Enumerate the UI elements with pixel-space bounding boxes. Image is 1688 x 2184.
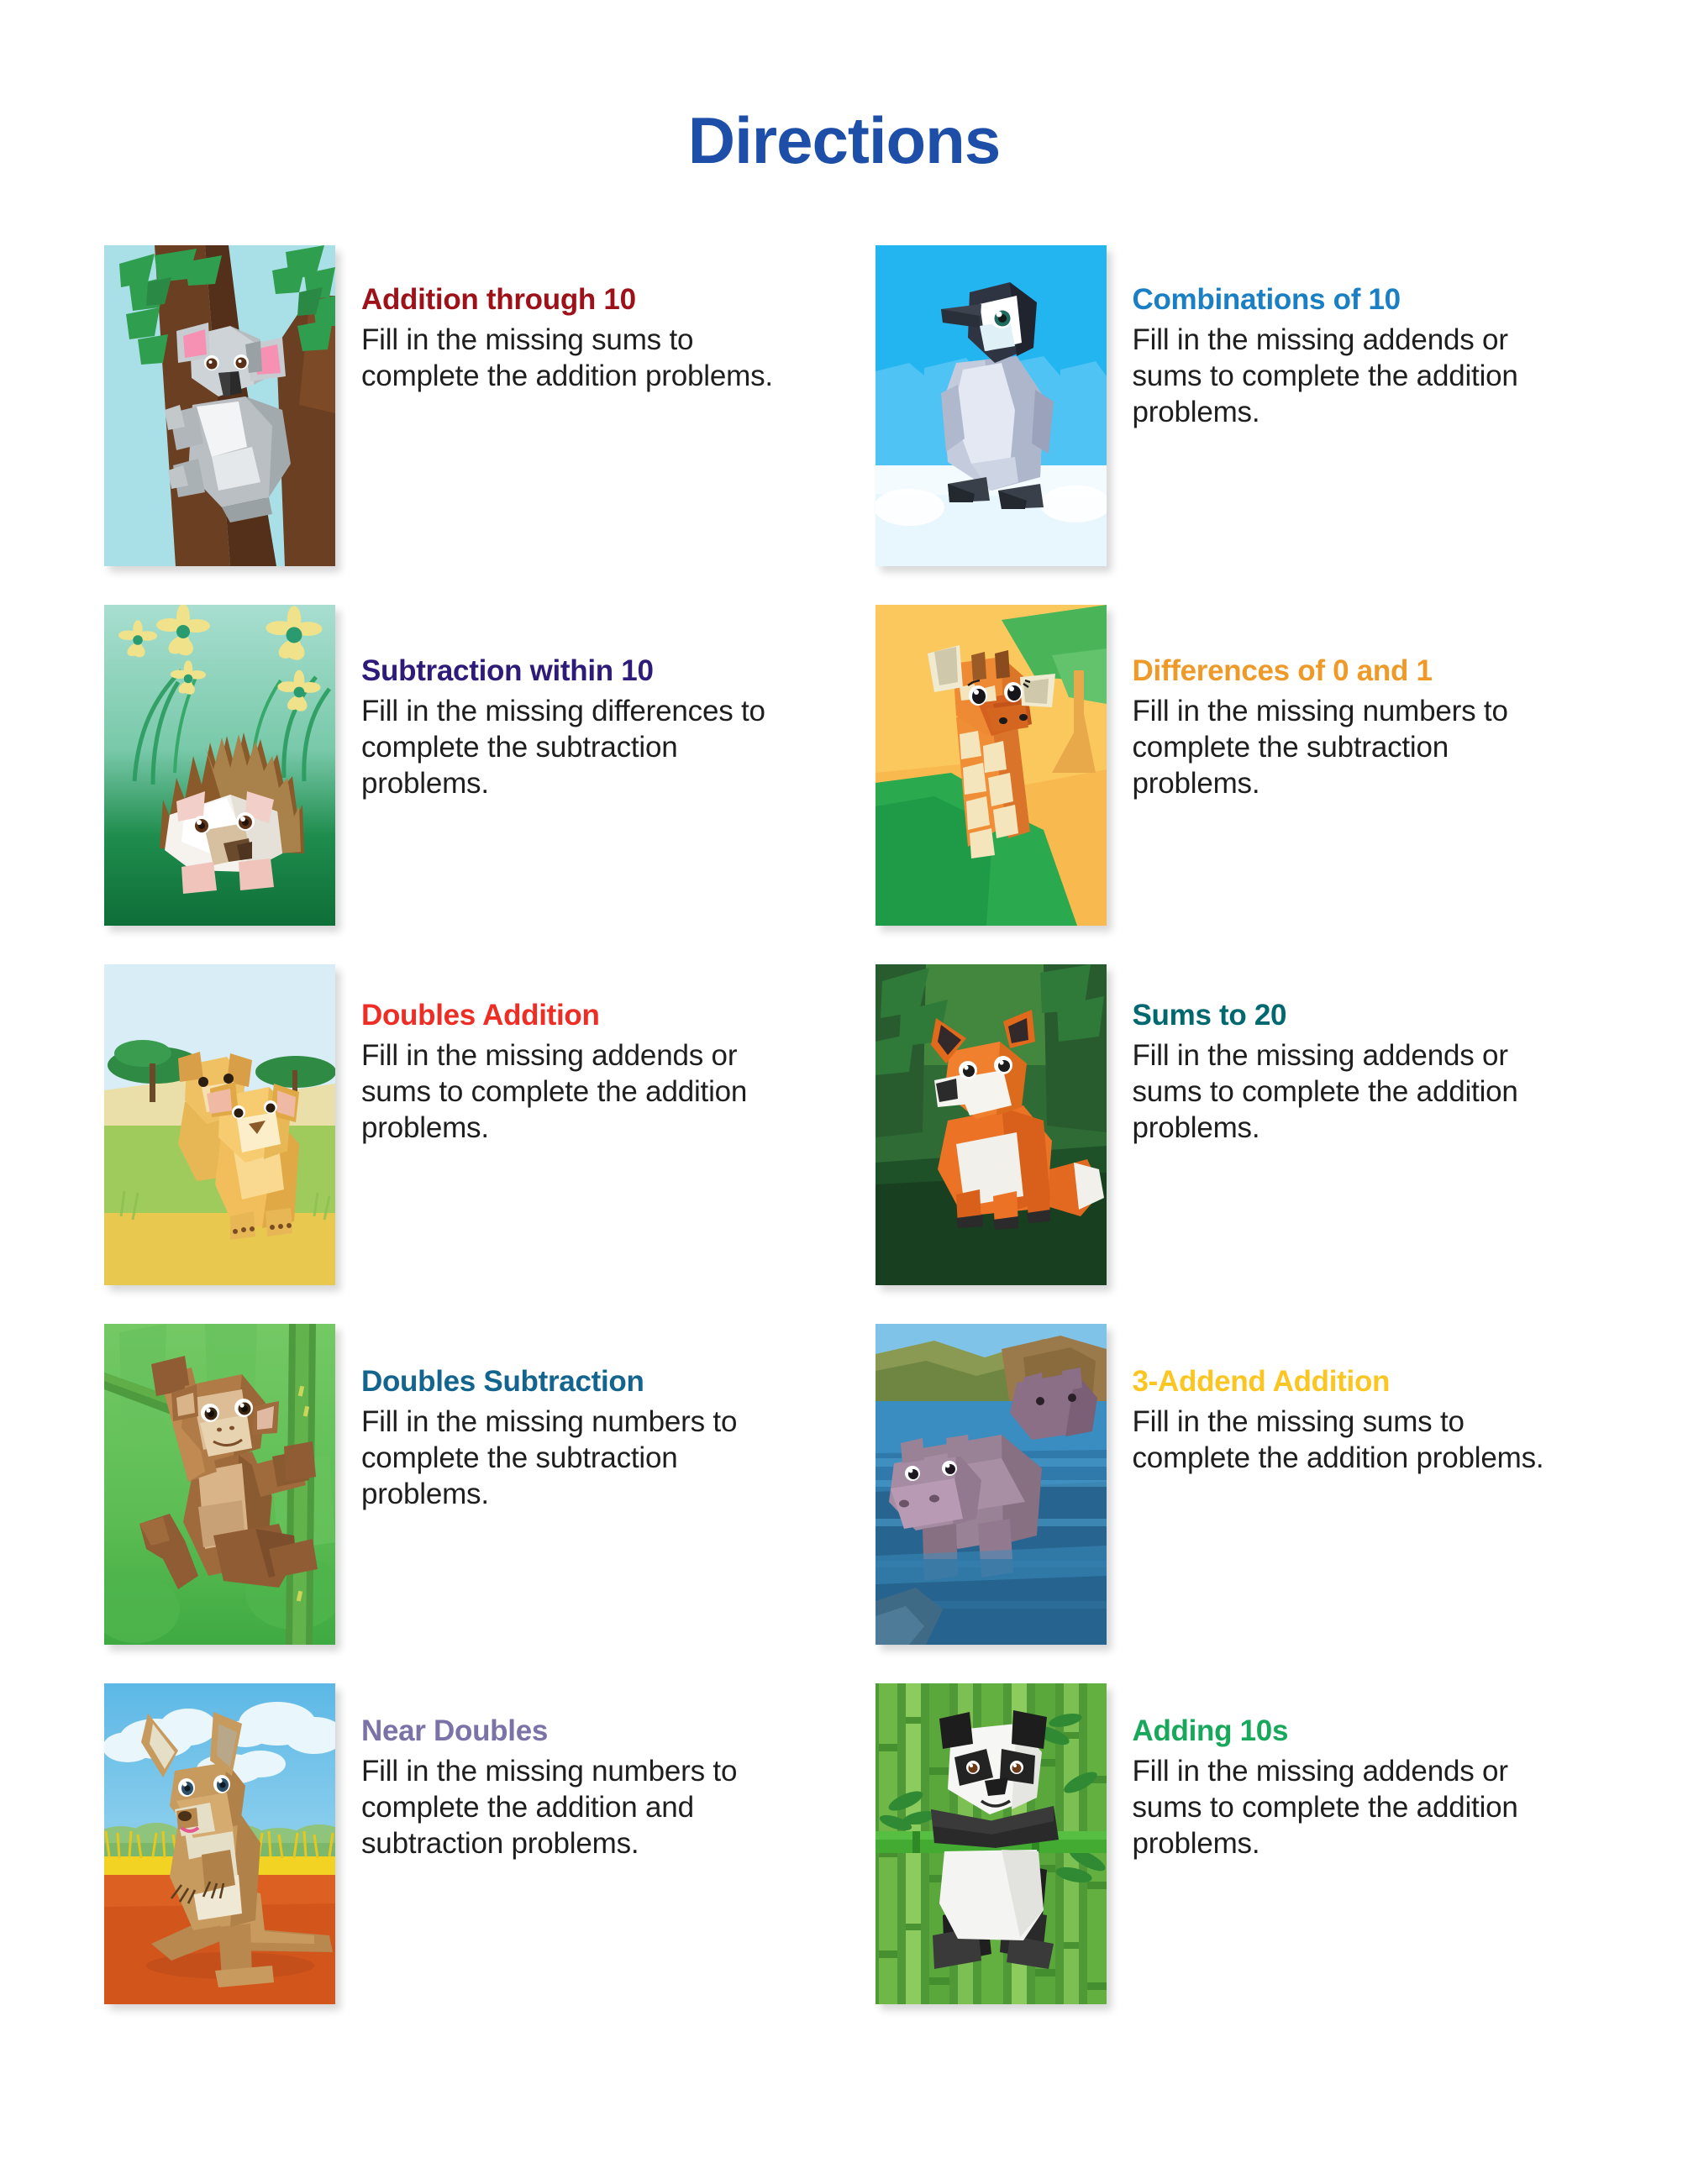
directions-grid: Addition through 10 Fill in the missing … — [0, 245, 1688, 2043]
entry-description: Fill in the missing numbers to complete … — [361, 1754, 780, 1861]
entry-description: Fill in the missing numbers to complete … — [1133, 694, 1551, 801]
direction-entry-adding-10s: Adding 10s Fill in the missing addends o… — [859, 1683, 1608, 2043]
entry-title: Doubles Subtraction — [361, 1364, 780, 1399]
panda-illustration — [876, 1683, 1107, 2004]
entry-title: 3-Addend Addition — [1133, 1364, 1551, 1399]
entry-text: Addition through 10 Fill in the missing … — [326, 245, 780, 395]
thumbnail-wrapper — [87, 964, 326, 1285]
direction-entry-differences-of-0-and-1: Differences of 0 and 1 Fill in the missi… — [859, 605, 1608, 964]
entry-text: Subtraction within 10 Fill in the missin… — [326, 605, 780, 801]
direction-entry-near-doubles: Near Doubles Fill in the missing numbers… — [87, 1683, 837, 2043]
entry-text: 3-Addend Addition Fill in the missing su… — [1097, 1324, 1551, 1477]
direction-entry-addition-through-10: Addition through 10 Fill in the missing … — [87, 245, 837, 605]
entry-title: Combinations of 10 — [1133, 282, 1551, 317]
thumbnail-wrapper — [87, 1324, 326, 1645]
page-title: Directions — [0, 0, 1688, 173]
entry-description: Fill in the missing sums to complete the… — [1133, 1404, 1551, 1476]
thumbnail-wrapper — [859, 964, 1097, 1285]
entry-text: Combinations of 10 Fill in the missing a… — [1097, 245, 1551, 430]
monkey-illustration — [104, 1324, 335, 1645]
direction-entry-combinations-of-10: Combinations of 10 Fill in the missing a… — [859, 245, 1608, 605]
entry-title: Near Doubles — [361, 1714, 780, 1748]
entry-title: Differences of 0 and 1 — [1133, 654, 1551, 688]
entry-text: Adding 10s Fill in the missing addends o… — [1097, 1683, 1551, 1861]
entry-description: Fill in the missing addends or sums to c… — [1133, 1038, 1551, 1146]
entry-title: Subtraction within 10 — [361, 654, 780, 688]
thumbnail-wrapper — [859, 1683, 1097, 2004]
lion-cubs-illustration — [104, 964, 335, 1285]
thumbnail-wrapper — [859, 1324, 1097, 1645]
thumbnail-wrapper — [859, 245, 1097, 566]
thumbnail-wrapper — [87, 605, 326, 926]
thumbnail-wrapper — [87, 245, 326, 566]
koala-in-tree-illustration — [104, 245, 335, 566]
entry-title: Addition through 10 — [361, 282, 780, 317]
entry-description: Fill in the missing sums to complete the… — [361, 323, 780, 394]
entry-description: Fill in the missing numbers to complete … — [361, 1404, 780, 1512]
fox-illustration — [876, 964, 1107, 1285]
direction-entry-3-addend-addition: 3-Addend Addition Fill in the missing su… — [859, 1324, 1608, 1683]
entry-description: Fill in the missing addends or sums to c… — [361, 1038, 780, 1146]
entry-text: Doubles Subtraction Fill in the missing … — [326, 1324, 780, 1512]
entry-description: Fill in the missing addends or sums to c… — [1133, 323, 1551, 430]
entry-description: Fill in the missing addends or sums to c… — [1133, 1754, 1551, 1861]
penguin-chick-illustration — [876, 245, 1107, 566]
direction-entry-doubles-subtraction: Doubles Subtraction Fill in the missing … — [87, 1324, 837, 1683]
direction-entry-doubles-addition: Doubles Addition Fill in the missing add… — [87, 964, 837, 1324]
direction-entry-subtraction-within-10: Subtraction within 10 Fill in the missin… — [87, 605, 837, 964]
directions-page: Directions — [0, 0, 1688, 2184]
entry-text: Near Doubles Fill in the missing numbers… — [326, 1683, 780, 1861]
hippo-illustration — [876, 1324, 1107, 1645]
entry-text: Doubles Addition Fill in the missing add… — [326, 964, 780, 1146]
entry-text: Differences of 0 and 1 Fill in the missi… — [1097, 605, 1551, 801]
hedgehog-illustration — [104, 605, 335, 926]
direction-entry-sums-to-20: Sums to 20 Fill in the missing addends o… — [859, 964, 1608, 1324]
entry-title: Adding 10s — [1133, 1714, 1551, 1748]
thumbnail-wrapper — [859, 605, 1097, 926]
thumbnail-wrapper — [87, 1683, 326, 2004]
giraffe-illustration — [876, 605, 1107, 926]
entry-title: Doubles Addition — [361, 998, 780, 1032]
entry-text: Sums to 20 Fill in the missing addends o… — [1097, 964, 1551, 1146]
entry-title: Sums to 20 — [1133, 998, 1551, 1032]
entry-description: Fill in the missing differences to compl… — [361, 694, 780, 801]
kangaroo-illustration — [104, 1683, 335, 2004]
